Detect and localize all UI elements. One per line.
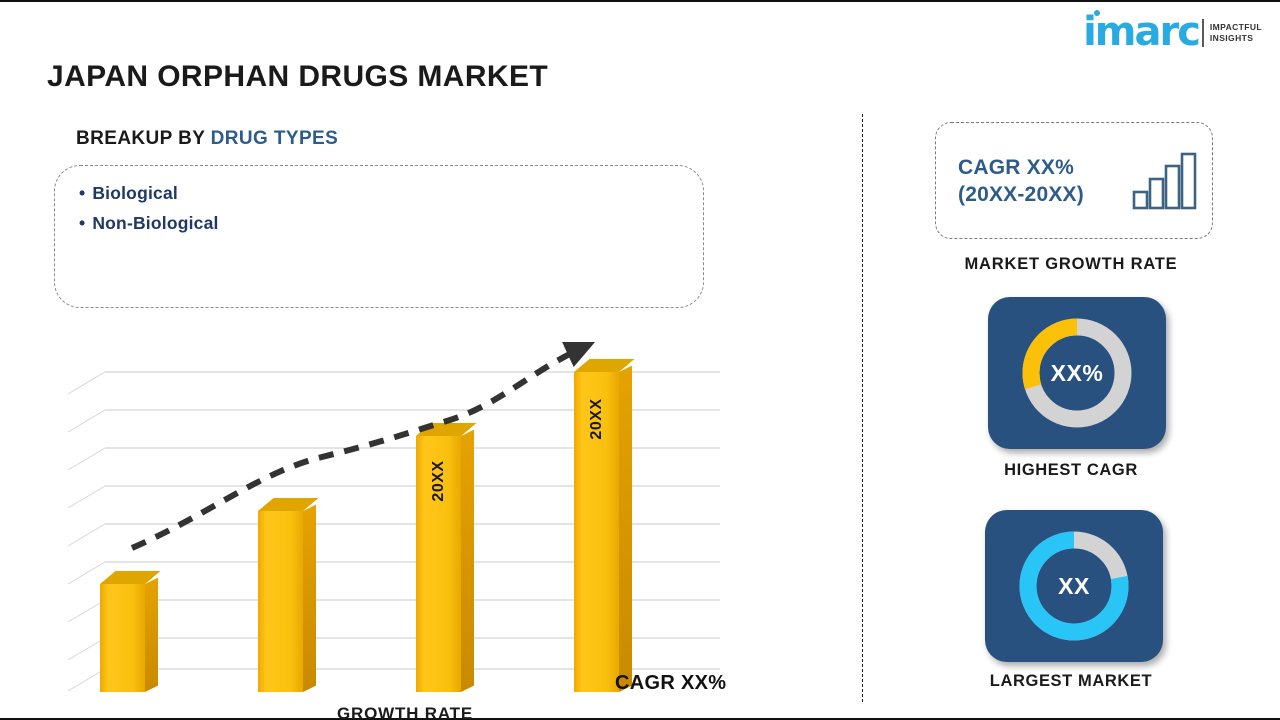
- market-growth-rate-caption: MARKET GROWTH RATE: [862, 255, 1280, 274]
- panel-divider: [862, 114, 863, 702]
- bar-3: 20XX: [416, 436, 461, 692]
- highest-cagr-value: XX%: [1051, 360, 1104, 387]
- list-item: Non-Biological: [79, 208, 703, 238]
- largest-market-caption: LARGEST MARKET: [862, 672, 1280, 691]
- breakup-list-box: Biological Non-Biological: [54, 165, 704, 308]
- bar-2: [258, 511, 303, 692]
- bar-side-face: [145, 578, 158, 692]
- bar-front-face: [100, 584, 145, 692]
- market-growth-rate-box: CAGR XX% (20XX-20XX): [935, 122, 1213, 239]
- cagr-line-1: CAGR XX%: [958, 154, 1084, 181]
- bar-side-face: [303, 505, 316, 692]
- chart-bars: 20XX 20XX: [60, 332, 750, 692]
- imarc-logo: imarc IMPACTFUL INSIGHTS: [1083, 15, 1262, 49]
- infographic-page: imarc IMPACTFUL INSIGHTS JAPAN ORPHAN DR…: [0, 0, 1280, 720]
- highest-cagr-caption: HIGHEST CAGR: [862, 461, 1280, 480]
- logo-divider: [1202, 19, 1204, 47]
- page-title: JAPAN ORPHAN DRUGS MARKET: [47, 60, 548, 94]
- logo-wordmark-text: imarc: [1083, 9, 1199, 55]
- cagr-text: CAGR XX% (20XX-20XX): [958, 154, 1084, 208]
- logo-tagline-line2: INSIGHTS: [1210, 33, 1262, 44]
- subtitle-highlight: DRUG TYPES: [211, 128, 339, 149]
- subtitle-prefix: BREAKUP BY: [76, 128, 205, 149]
- bar-label: 20XX: [588, 398, 606, 439]
- cagr-line-2: (20XX-20XX): [958, 181, 1084, 208]
- cagr-callout-label: CAGR XX%: [615, 672, 726, 695]
- bar-side-face: [619, 366, 632, 692]
- bar-1: [100, 584, 145, 692]
- highest-cagr-card: XX%: [988, 297, 1166, 449]
- bar-front-face: [258, 511, 303, 692]
- logo-tagline: IMPACTFUL INSIGHTS: [1210, 19, 1262, 47]
- logo-wordmark: imarc: [1083, 15, 1199, 49]
- largest-market-card: XX: [985, 510, 1163, 662]
- bar-chart-ascending-icon: [1132, 152, 1198, 210]
- chart-x-axis-label: GROWTH RATE: [60, 704, 750, 720]
- bar-side-face: [461, 430, 474, 692]
- bar-4: 20XX: [574, 372, 619, 692]
- logo-tagline-line1: IMPACTFUL: [1210, 22, 1262, 33]
- largest-market-value: XX: [1058, 573, 1090, 600]
- list-item: Biological: [79, 178, 703, 208]
- bar-label: 20XX: [430, 460, 448, 501]
- growth-rate-chart: 20XX 20XX CAGR XX% GROWTH RATE: [60, 332, 750, 720]
- subtitle: BREAKUP BY DRUG TYPES: [76, 128, 338, 150]
